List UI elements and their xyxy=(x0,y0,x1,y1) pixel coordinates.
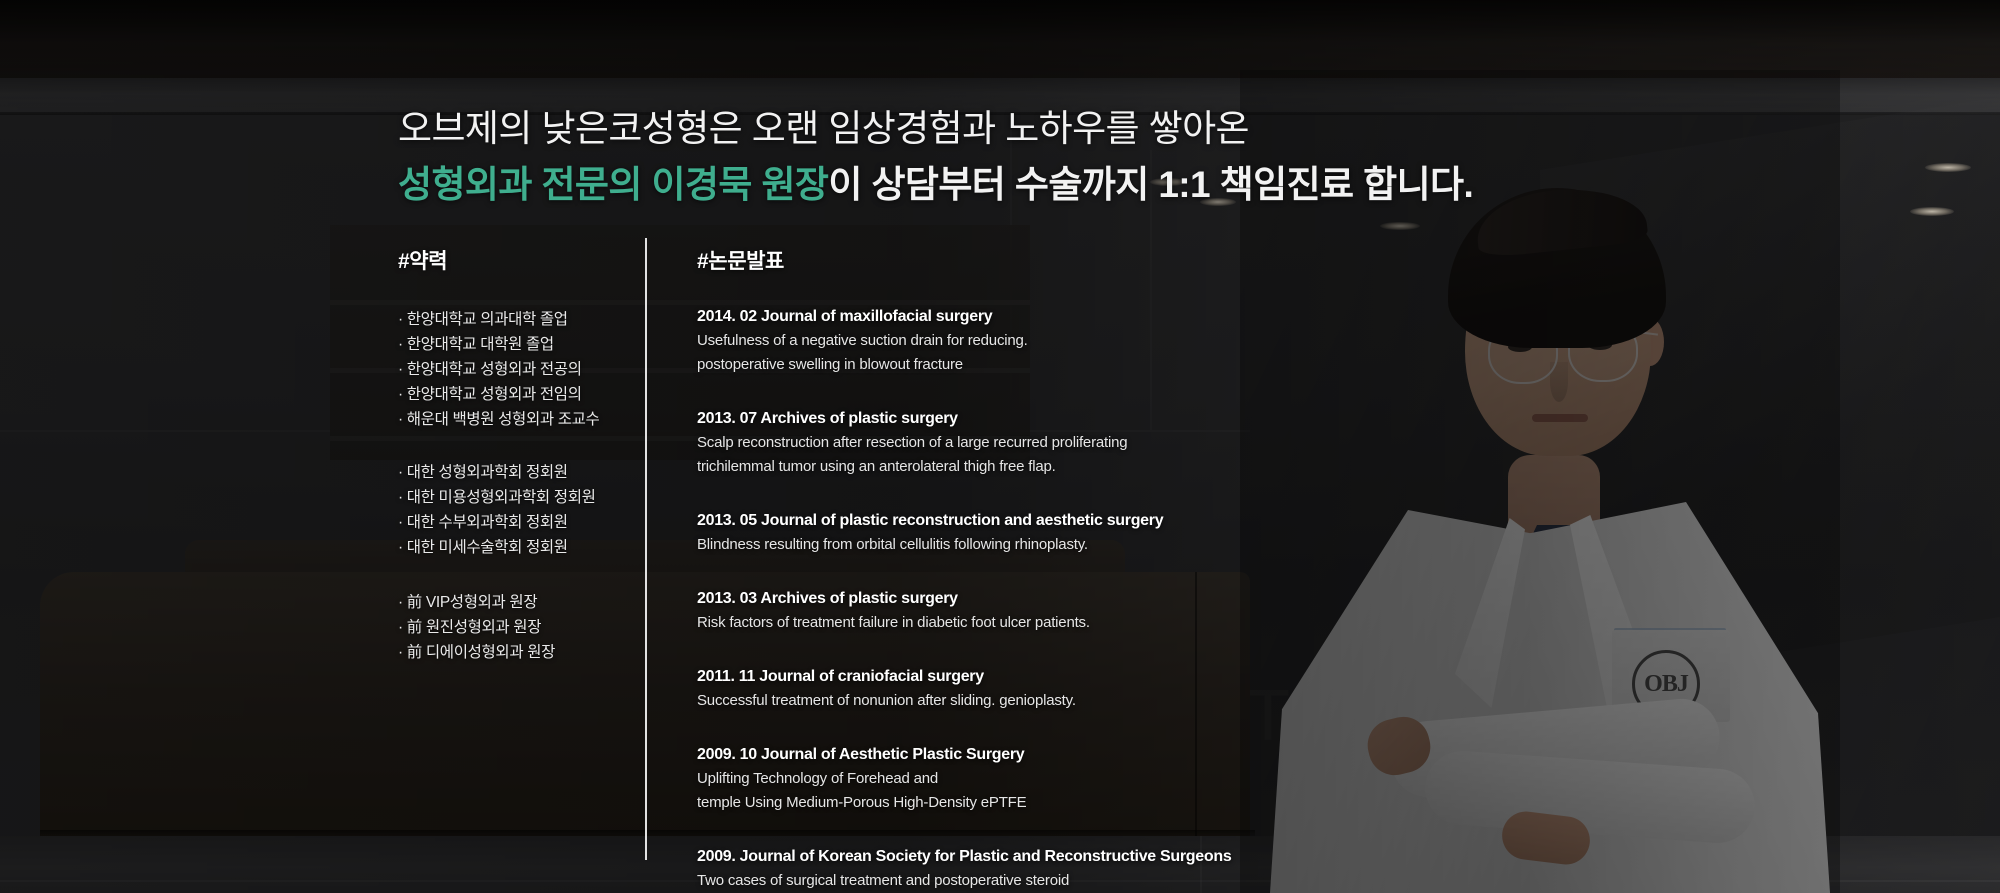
publication-line: Risk factors of treatment failure in dia… xyxy=(697,611,1237,635)
promo-banner: OBJET OBJ xyxy=(0,0,2000,893)
publication-entry: 2013. 07 Archives of plastic surgery Sca… xyxy=(697,407,1237,479)
headline-accent-text: 성형외과 전문의 이경묵 원장 xyxy=(398,164,828,205)
publication-line: Two cases of surgical treatment and post… xyxy=(697,869,1237,893)
column-divider xyxy=(645,238,647,860)
career-item: · 前 원진성형외과 원장 xyxy=(398,615,628,640)
publication-entry: 2013. 03 Archives of plastic surgery Ris… xyxy=(697,587,1237,635)
publications-column: #논문발표 2014. 02 Journal of maxillofacial … xyxy=(697,245,1237,893)
career-item: · 대한 수부외과학회 정회원 xyxy=(398,510,628,535)
publication-line: Uplifting Technology of Forehead and xyxy=(697,767,1237,791)
publications-section-title: #논문발표 xyxy=(697,245,1237,275)
career-item: · 한양대학교 대학원 졸업 xyxy=(398,332,628,357)
publication-line: Successful treatment of nonunion after s… xyxy=(697,689,1237,713)
publication-heading: 2014. 02 Journal of maxillofacial surger… xyxy=(697,305,1237,329)
headline-rest-text: 이 상담부터 수술까지 1:1 책임진료 합니다. xyxy=(828,164,1473,205)
publication-heading: 2009. Journal of Korean Society for Plas… xyxy=(697,845,1237,869)
career-item: · 前 VIP성형외과 원장 xyxy=(398,590,628,615)
career-group-previous-posts: · 前 VIP성형외과 원장 · 前 원진성형외과 원장 · 前 디에이성형외과… xyxy=(398,590,628,665)
publication-line: Blindness resulting from orbital celluli… xyxy=(697,533,1237,557)
publication-line: Scalp reconstruction after resection of … xyxy=(697,431,1237,455)
headline: 오브제의 낮은코성형은 오랜 임상경험과 노하우를 쌓아온 성형외과 전문의 이… xyxy=(398,104,1473,209)
publication-line: temple Using Medium-Porous High-Density … xyxy=(697,791,1237,815)
publication-heading: 2011. 11 Journal of craniofacial surgery xyxy=(697,665,1237,689)
career-item: · 대한 미세수술학회 정회원 xyxy=(398,535,628,560)
publication-heading: 2009. 10 Journal of Aesthetic Plastic Su… xyxy=(697,743,1237,767)
headline-line-1: 오브제의 낮은코성형은 오랜 임상경험과 노하우를 쌓아온 xyxy=(398,104,1473,154)
publication-line: trichilemmal tumor using an anterolatera… xyxy=(697,455,1237,479)
career-item: · 한양대학교 의과대학 졸업 xyxy=(398,307,628,332)
content-layer: 오브제의 낮은코성형은 오랜 임상경험과 노하우를 쌓아온 성형외과 전문의 이… xyxy=(0,0,2000,893)
career-item: · 해운대 백병원 성형외과 조교수 xyxy=(398,407,628,432)
publication-entry: 2014. 02 Journal of maxillofacial surger… xyxy=(697,305,1237,377)
publication-entry: 2011. 11 Journal of craniofacial surgery… xyxy=(697,665,1237,713)
publication-line: Usefulness of a negative suction drain f… xyxy=(697,329,1237,353)
career-item: · 대한 성형외과학회 정회원 xyxy=(398,460,628,485)
career-column: #약력 · 한양대학교 의과대학 졸업 · 한양대학교 대학원 졸업 · 한양대… xyxy=(398,245,628,665)
publication-line: postoperative swelling in blowout fractu… xyxy=(697,353,1237,377)
career-item: · 한양대학교 성형외과 전공의 xyxy=(398,357,628,382)
career-item: · 前 디에이성형외과 원장 xyxy=(398,640,628,665)
career-item: · 대한 미용성형외과학회 정회원 xyxy=(398,485,628,510)
career-group-education: · 한양대학교 의과대학 졸업 · 한양대학교 대학원 졸업 · 한양대학교 성… xyxy=(398,307,628,432)
publication-entry: 2009. 10 Journal of Aesthetic Plastic Su… xyxy=(697,743,1237,815)
publication-heading: 2013. 03 Archives of plastic surgery xyxy=(697,587,1237,611)
career-section-title: #약력 xyxy=(398,245,628,275)
career-group-memberships: · 대한 성형외과학회 정회원 · 대한 미용성형외과학회 정회원 · 대한 수… xyxy=(398,460,628,560)
publication-heading: 2013. 07 Archives of plastic surgery xyxy=(697,407,1237,431)
career-item: · 한양대학교 성형외과 전임의 xyxy=(398,382,628,407)
publication-entry: 2013. 05 Journal of plastic reconstructi… xyxy=(697,509,1237,557)
publication-entry: 2009. Journal of Korean Society for Plas… xyxy=(697,845,1237,893)
publication-heading: 2013. 05 Journal of plastic reconstructi… xyxy=(697,509,1237,533)
headline-line-2: 성형외과 전문의 이경묵 원장이 상담부터 수술까지 1:1 책임진료 합니다. xyxy=(398,160,1473,210)
